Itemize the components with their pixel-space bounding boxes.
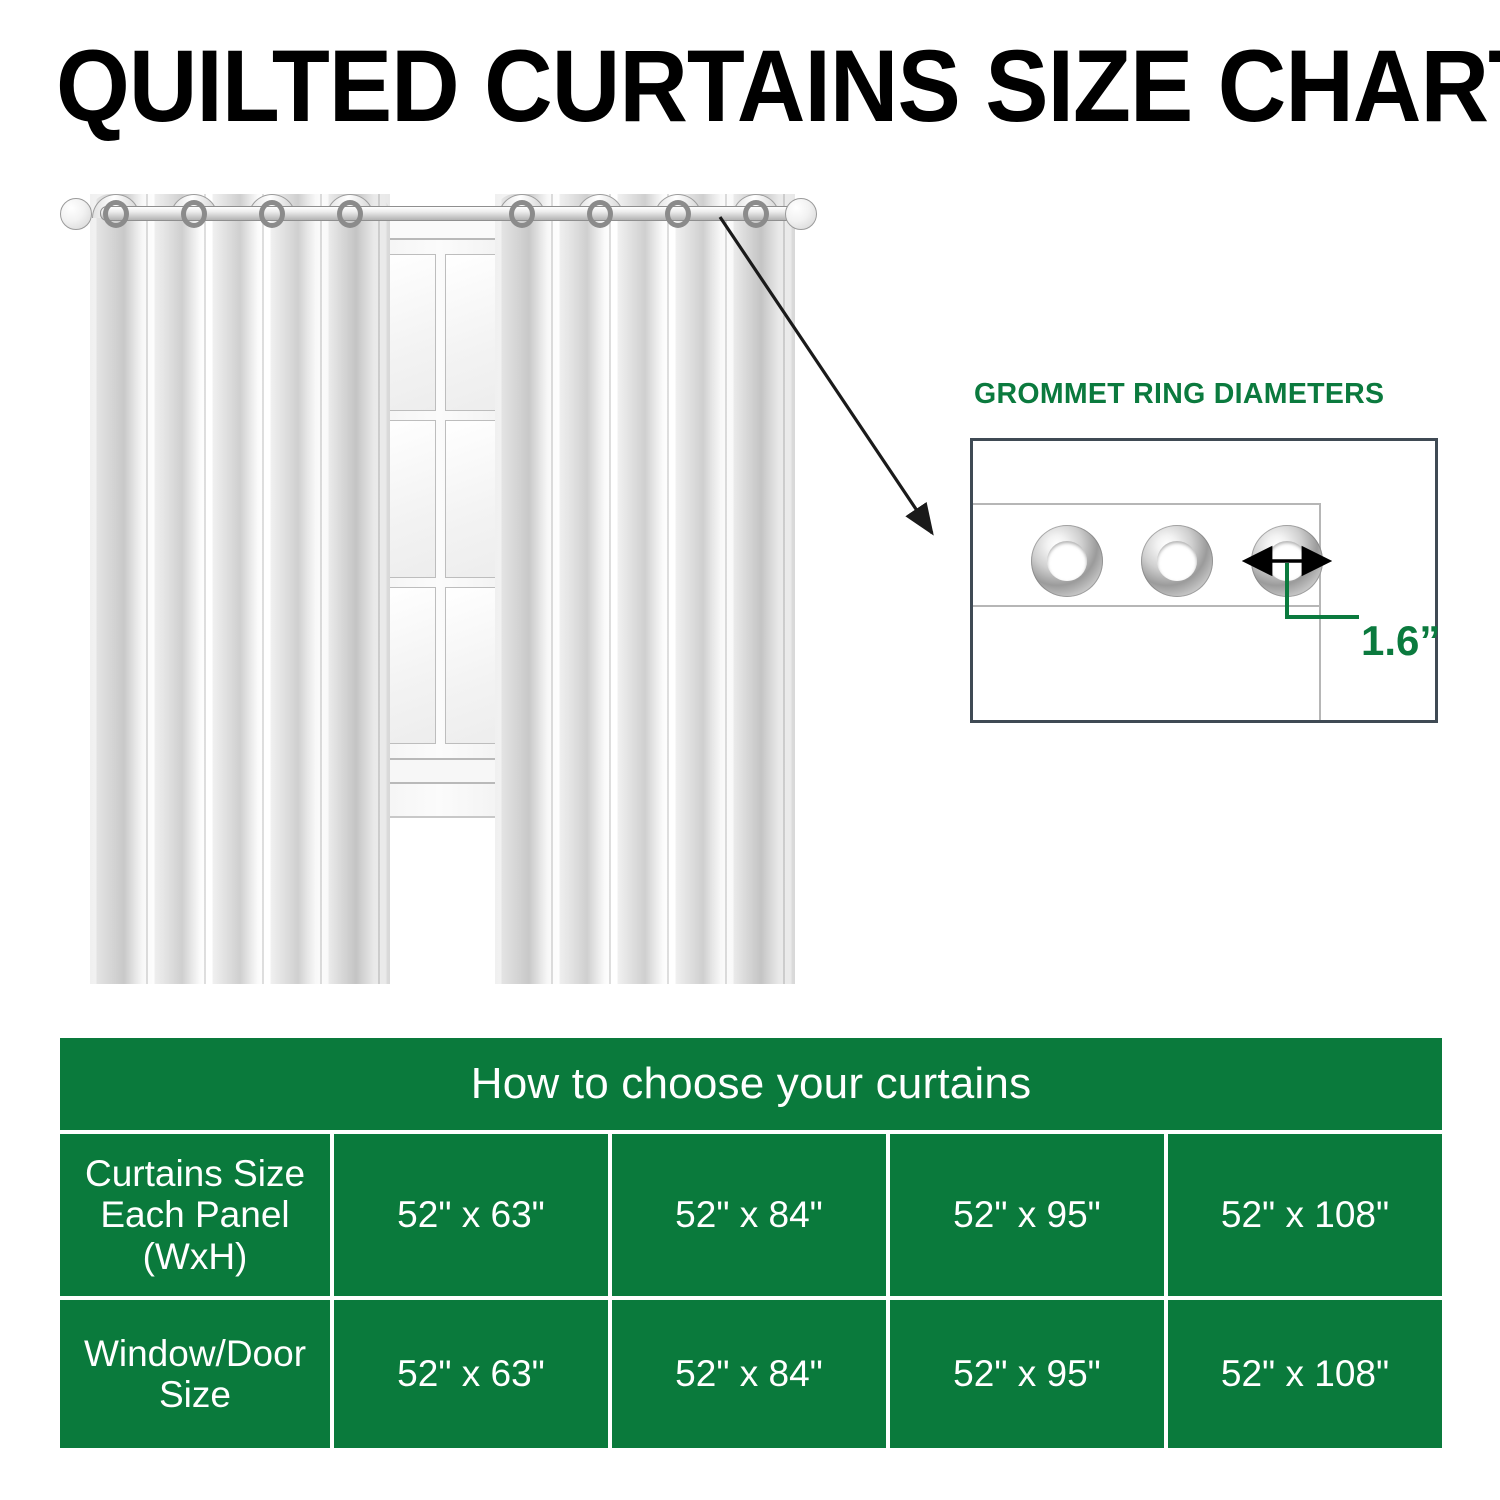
window-header-trim — [370, 218, 510, 240]
rod-grommet-ring-icon — [103, 200, 129, 228]
window-pane-grid — [378, 254, 502, 744]
size-chart-table: How to choose your curtains Curtains Siz… — [60, 1038, 1442, 1448]
dimension-annotation — [973, 441, 1441, 726]
table-row: Window/Door Size 52" x 63" 52" x 84" 52"… — [60, 1300, 1442, 1448]
curtain-shading — [90, 194, 390, 984]
grommet-section-heading: GROMMET RING DIAMETERS — [974, 378, 1384, 411]
curtain-panel-left — [90, 194, 390, 984]
grommet-diameter-label: 1.6” — [1361, 617, 1440, 665]
rod-grommet-ring-icon — [259, 200, 285, 228]
table-row: Curtains Size Each Panel (WxH) 52" x 63"… — [60, 1134, 1442, 1296]
page-title: QUILTED CURTAINS SIZE CHART — [56, 36, 1358, 136]
table-cell: 52" x 84" — [612, 1134, 886, 1296]
table-cell: 52" x 63" — [334, 1300, 608, 1448]
grommet-detail-section: GROMMET RING DIAMETERS 1.6” — [968, 378, 1446, 728]
rod-grommet-ring-icon — [509, 200, 535, 228]
table-cell: 52" x 95" — [890, 1300, 1164, 1448]
table-header-title: How to choose your curtains — [60, 1038, 1442, 1130]
rod-grommet-ring-icon — [181, 200, 207, 228]
callout-arrow-icon — [700, 195, 980, 565]
rod-finial-left-icon — [60, 198, 92, 230]
row-label-curtains-size: Curtains Size Each Panel (WxH) — [60, 1134, 330, 1296]
window-pane — [445, 254, 503, 411]
window-pane — [445, 587, 503, 744]
window-sill — [370, 758, 510, 784]
table-cell: 52" x 63" — [334, 1134, 608, 1296]
table-cell: 52" x 95" — [890, 1134, 1164, 1296]
rod-grommet-ring-icon — [665, 200, 691, 228]
grommet-detail-box: 1.6” — [970, 438, 1438, 723]
table-cell: 52" x 108" — [1168, 1300, 1442, 1448]
window-pane — [445, 420, 503, 577]
curtain-fabric — [90, 194, 390, 984]
rod-grommet-ring-icon — [587, 200, 613, 228]
table-cell: 52" x 84" — [612, 1300, 886, 1448]
table-cell: 52" x 108" — [1168, 1134, 1442, 1296]
row-label-window-door-size: Window/Door Size — [60, 1300, 330, 1448]
rod-grommet-ring-icon — [337, 200, 363, 228]
